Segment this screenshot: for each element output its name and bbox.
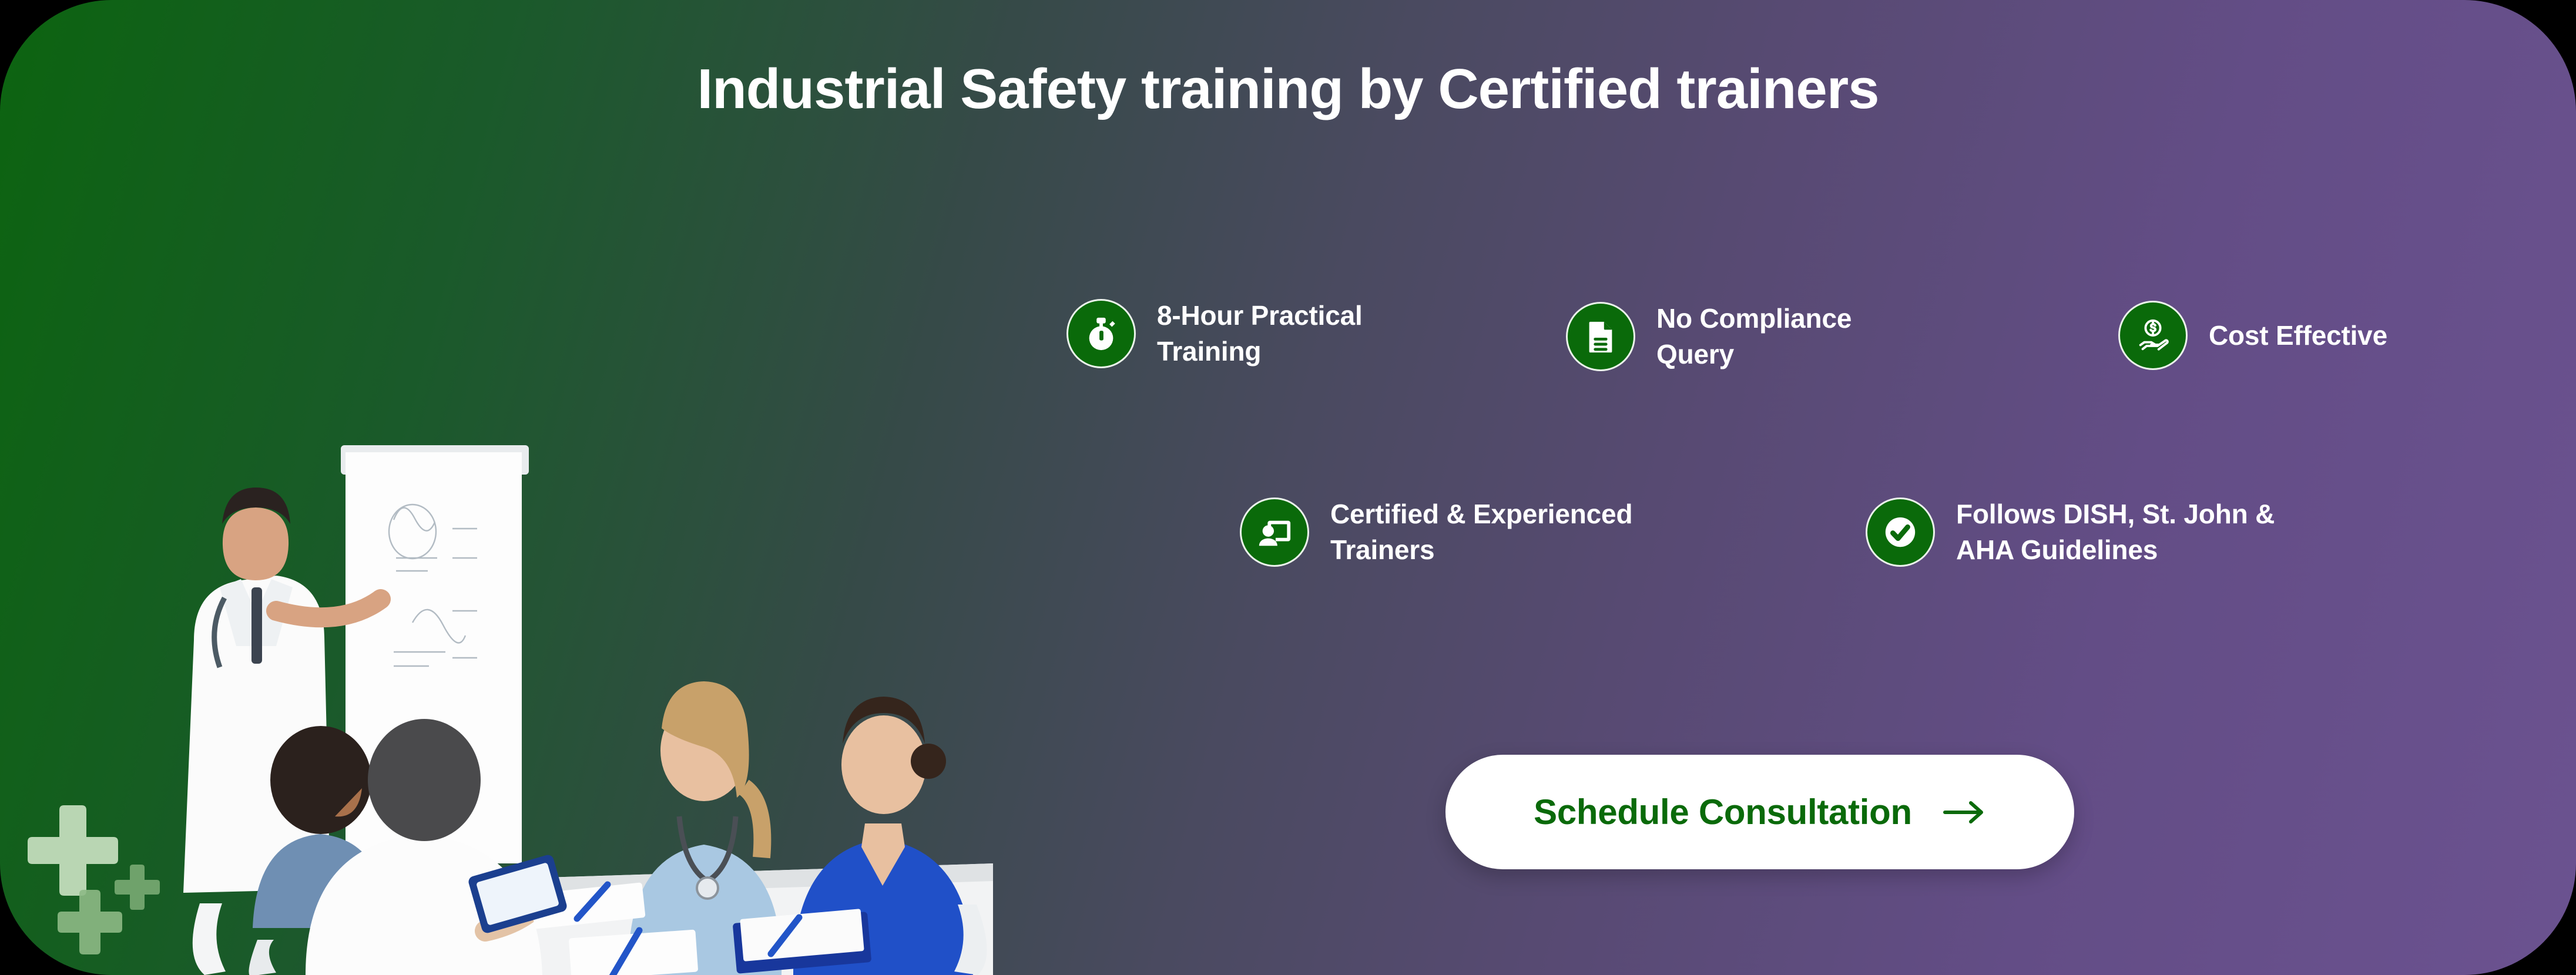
feature-guidelines: Follows DISH, St. John & AHA Guidelines bbox=[1866, 496, 2275, 567]
feature-label: No Compliance Query bbox=[1656, 301, 1851, 372]
feature-label: Certified & Experienced Trainers bbox=[1330, 496, 1632, 567]
promo-banner: Industrial Safety training by Certified … bbox=[0, 0, 2576, 975]
stopwatch-icon bbox=[1066, 299, 1136, 368]
feature-label: Follows DISH, St. John & AHA Guidelines bbox=[1956, 496, 2275, 567]
page-title: Industrial Safety training by Certified … bbox=[0, 59, 2576, 120]
document-icon bbox=[1566, 302, 1635, 371]
training-session-photo bbox=[159, 411, 993, 975]
feature-label: Cost Effective bbox=[2209, 318, 2387, 354]
feature-label: 8-Hour Practical Training bbox=[1157, 298, 1363, 369]
presenter-icon bbox=[1240, 497, 1309, 567]
feature-practical-training: 8-Hour Practical Training bbox=[1066, 298, 1363, 369]
arrow-right-icon bbox=[1943, 799, 1986, 825]
feature-no-compliance-query: No Compliance Query bbox=[1566, 301, 1851, 372]
feature-certified-trainers: Certified & Experienced Trainers bbox=[1240, 496, 1632, 567]
feature-cost-effective: Cost Effective bbox=[2118, 301, 2387, 370]
training-scene-illustration bbox=[159, 411, 993, 975]
check-circle-icon bbox=[1866, 497, 1935, 567]
cta-label: Schedule Consultation bbox=[1534, 792, 1912, 832]
hand-coin-icon bbox=[2118, 301, 2188, 370]
schedule-consultation-button[interactable]: Schedule Consultation bbox=[1445, 755, 2074, 869]
